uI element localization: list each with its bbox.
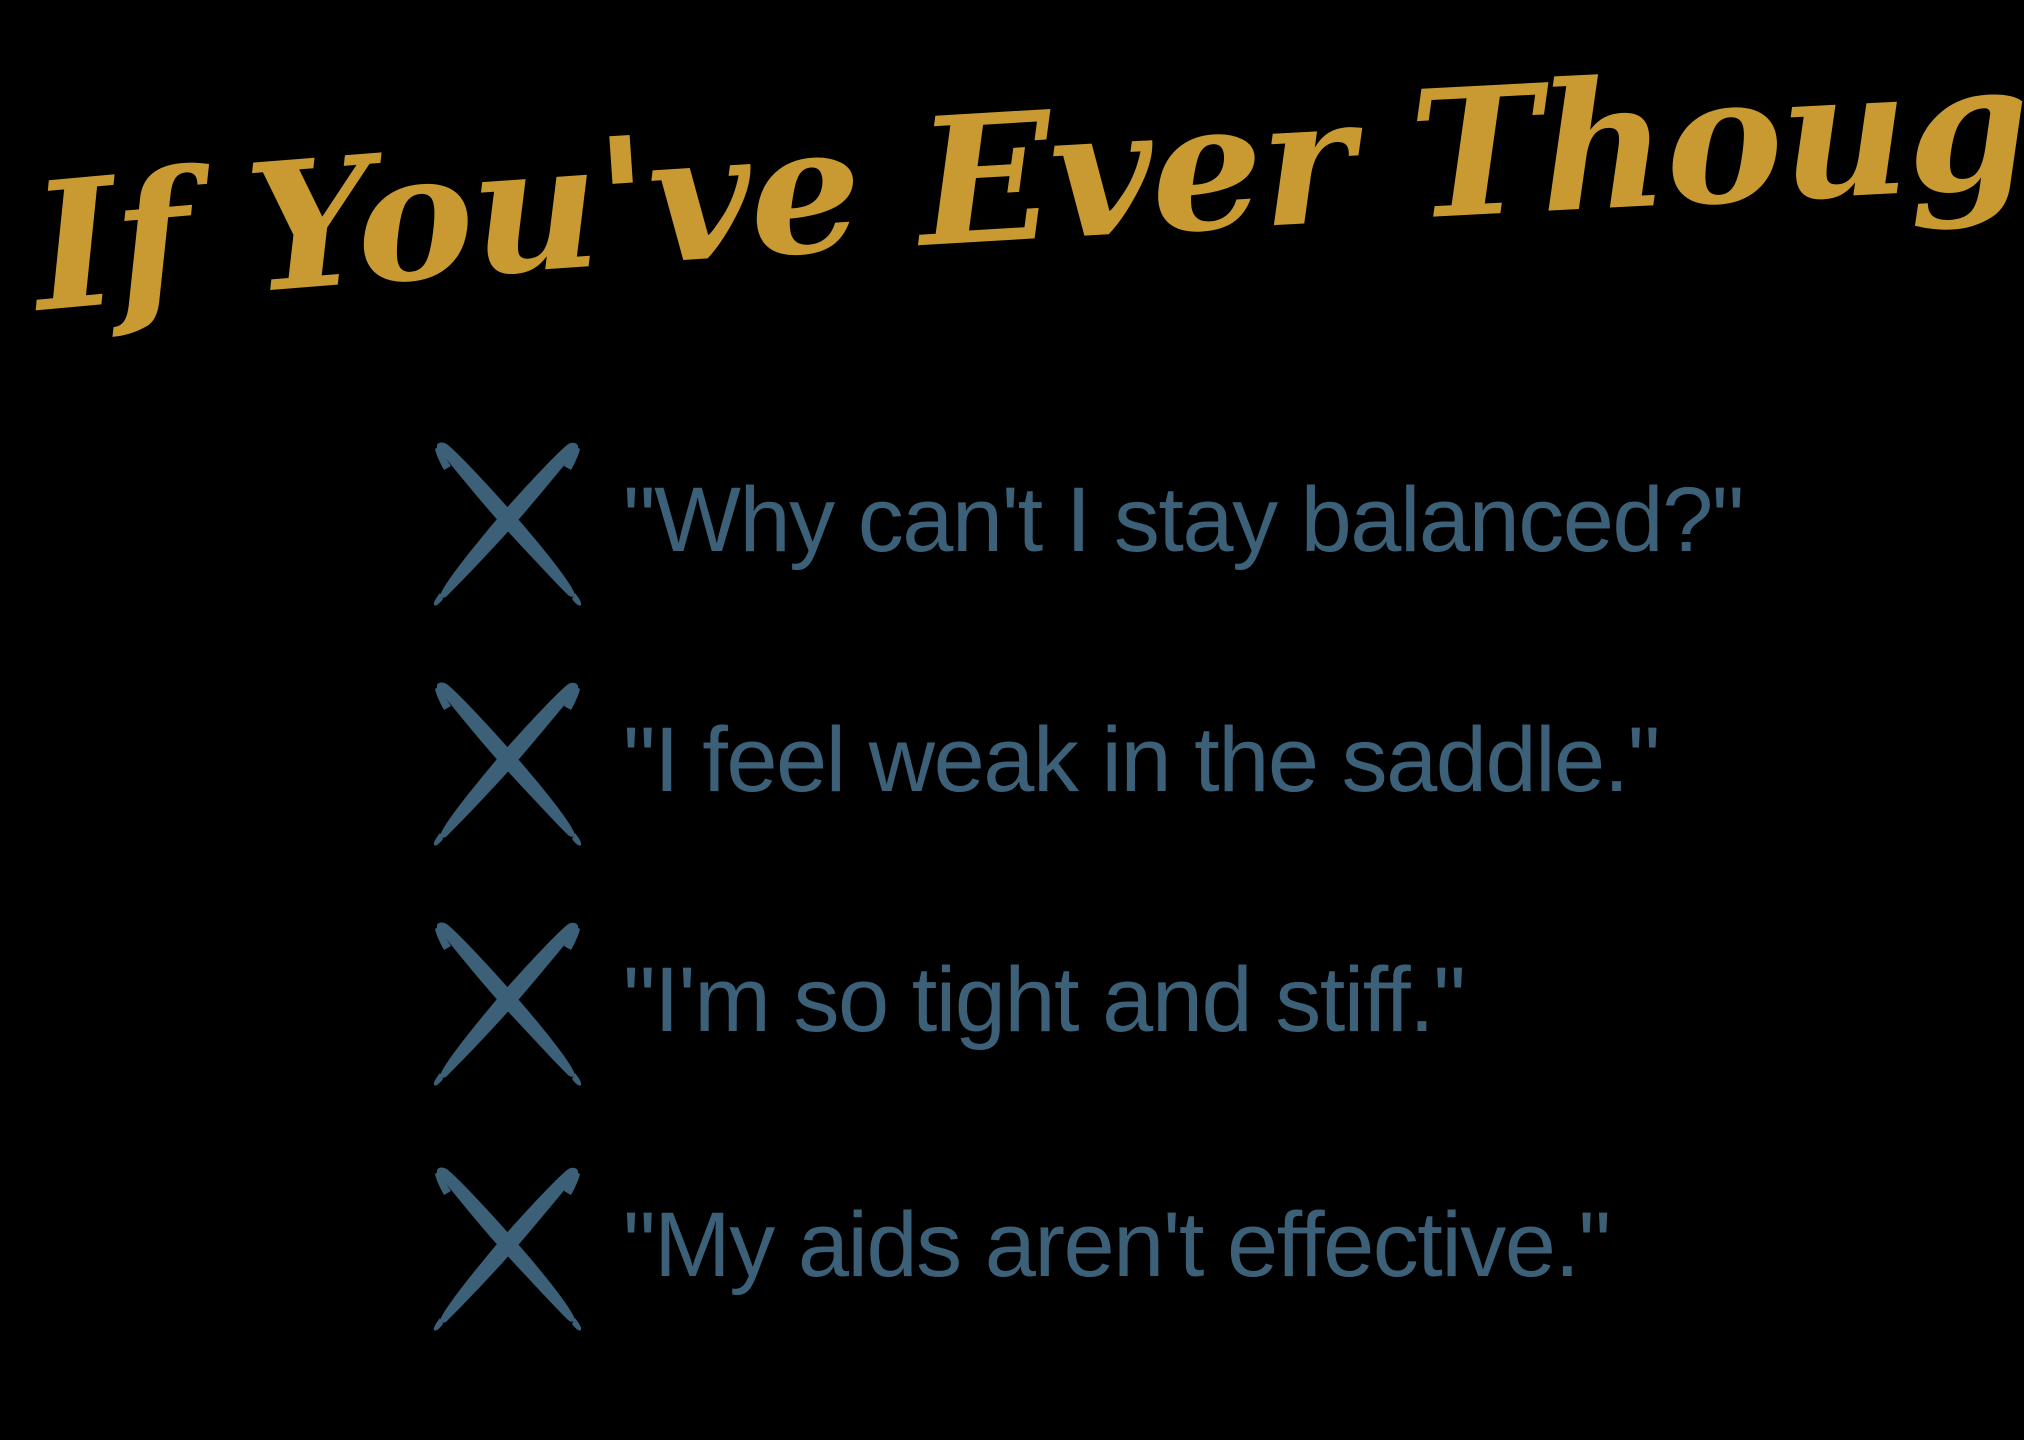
list-item: "I'm so tight and stiff."	[420, 900, 2000, 1100]
list-item: "My aids aren't effective."	[420, 1145, 2000, 1345]
objection-list: "Why can't I stay balanced?" "I feel wea…	[0, 400, 2024, 1440]
list-item-label: "I'm so tight and stiff."	[623, 954, 2000, 1046]
headline-svg: If You've Ever Thought...	[0, 60, 2024, 360]
page-title: If You've Ever Thought...	[0, 60, 2024, 360]
list-item: "Why can't I stay balanced?"	[420, 420, 2000, 620]
list-item: "I feel weak in the saddle."	[420, 660, 2000, 860]
list-item-label: "I feel weak in the saddle."	[623, 714, 2000, 806]
x-brush-mark-icon	[420, 433, 595, 608]
list-item-label: "My aids aren't effective."	[623, 1199, 2000, 1291]
slide-canvas: If You've Ever Thought... "Why can't I s…	[0, 0, 2024, 1440]
x-brush-mark-icon	[420, 913, 595, 1088]
x-brush-mark-icon	[420, 673, 595, 848]
list-item-label: "Why can't I stay balanced?"	[623, 474, 2000, 566]
headline-text: If You've Ever Thought...	[0, 60, 2024, 352]
x-brush-mark-icon	[420, 1158, 595, 1333]
